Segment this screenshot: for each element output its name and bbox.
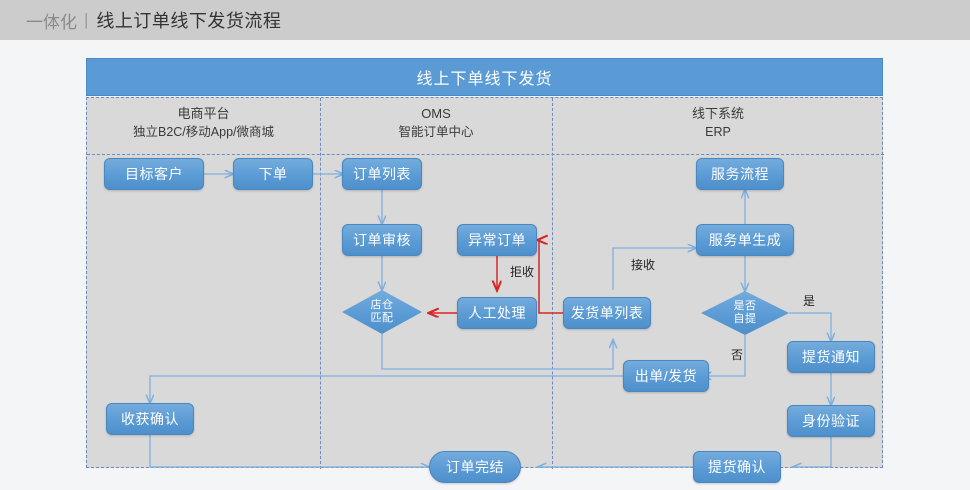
- node-receive-confirm[interactable]: 收获确认: [106, 403, 194, 435]
- node-self-pickup-label: 是否 自提: [701, 291, 789, 335]
- node-service-order-generate[interactable]: 服务单生成: [696, 224, 794, 256]
- node-order-list[interactable]: 订单列表: [342, 158, 422, 190]
- node-abnormal-order[interactable]: 异常订单: [457, 224, 537, 256]
- title-text-group: 一体化 | 线上订单线下发货流程: [26, 0, 281, 40]
- node-store-match-label: 店仓 匹配: [342, 290, 422, 334]
- node-pickup-confirm[interactable]: 提货确认: [693, 451, 781, 483]
- screenshot-root: 一体化 | 线上订单线下发货流程 TIANDU.CN 线上下单线下发货 电商平台…: [0, 0, 970, 490]
- node-issue-ship[interactable]: 出单/发货: [623, 360, 709, 392]
- edge-label-yes: 是: [803, 292, 815, 309]
- node-place-order[interactable]: 下单: [233, 158, 313, 190]
- node-store-match-line1: 店仓: [371, 299, 394, 312]
- node-self-pickup-line1: 是否: [734, 300, 757, 313]
- lane-title-1: 电商平台: [177, 106, 229, 121]
- node-order-complete[interactable]: 订单完结: [429, 451, 521, 483]
- node-self-pickup-line2: 自提: [734, 313, 757, 326]
- edge-label-reject: 拒收: [510, 263, 534, 280]
- node-identity-verify[interactable]: 身份验证: [787, 405, 875, 437]
- lane-subtitle-2: 智能订单中心: [320, 123, 552, 142]
- lane-header-ecommerce: 电商平台 独立B2C/移动App/微商城: [87, 104, 320, 142]
- edge-label-accept: 接收: [631, 256, 655, 273]
- node-target-customer[interactable]: 目标客户: [104, 158, 204, 190]
- node-store-match-line2: 匹配: [371, 312, 394, 325]
- lane-subtitle-1: 独立B2C/移动App/微商城: [87, 123, 320, 142]
- node-shipment-list[interactable]: 发货单列表: [563, 297, 651, 329]
- flowchart: 线上下单线下发货 电商平台 独立B2C/移动App/微商城 OMS 智能订单中心…: [86, 58, 883, 468]
- diagram-canvas: TIANDU.CN 线上下单线下发货 电商平台 独立B2C/移动App/微商城 …: [0, 40, 970, 490]
- node-pickup-notice[interactable]: 提货通知: [787, 341, 875, 373]
- swimlane-container: 电商平台 独立B2C/移动App/微商城 OMS 智能订单中心 线下系统 ERP: [86, 97, 883, 468]
- lane-header-oms: OMS 智能订单中心: [320, 104, 552, 142]
- lane-subtitle-3: ERP: [552, 123, 884, 142]
- lane-title-3: 线下系统: [692, 106, 744, 121]
- node-store-match[interactable]: 店仓 匹配: [342, 290, 422, 334]
- node-service-flow[interactable]: 服务流程: [696, 158, 784, 190]
- lane-header-separator: [87, 154, 884, 155]
- edge-label-no: 否: [731, 346, 743, 363]
- lane-title-2: OMS: [421, 106, 451, 121]
- page-title-bar: 一体化 | 线上订单线下发货流程: [0, 0, 970, 40]
- flowchart-band-title: 线上下单线下发货: [86, 58, 883, 96]
- lane-header-erp: 线下系统 ERP: [552, 104, 884, 142]
- title-prefix: 一体化: [26, 8, 77, 33]
- node-self-pickup-decision[interactable]: 是否 自提: [701, 291, 789, 335]
- node-manual-process[interactable]: 人工处理: [457, 297, 537, 329]
- node-order-review[interactable]: 订单审核: [342, 224, 422, 256]
- page-title: 线上订单线下发货流程: [96, 7, 281, 33]
- title-separator: |: [84, 10, 88, 30]
